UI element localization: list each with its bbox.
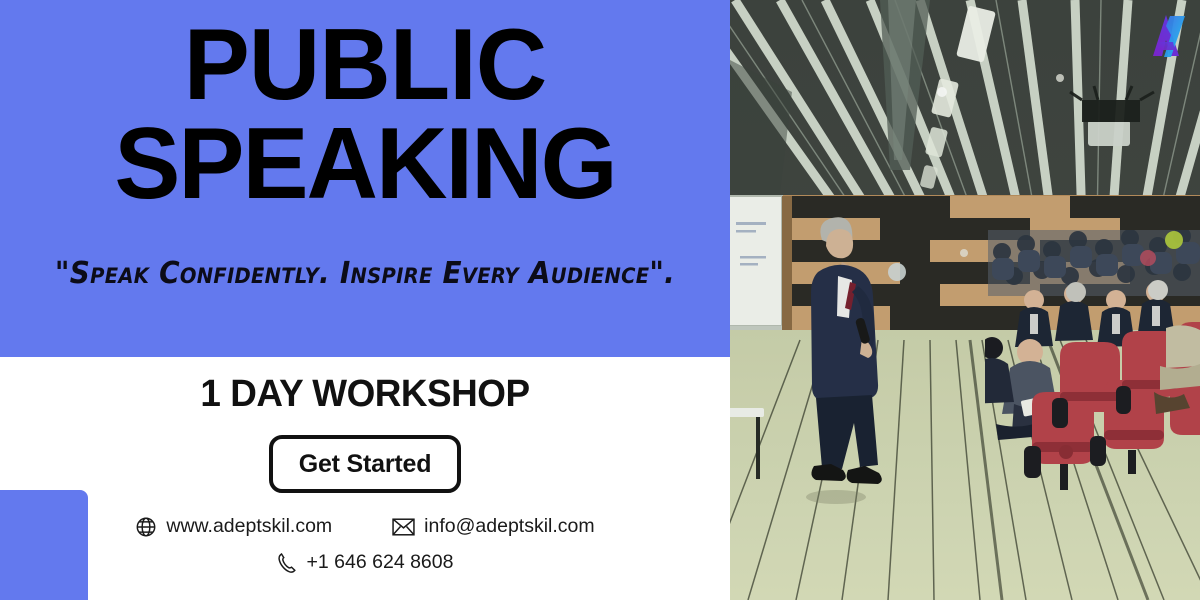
lecture-hall-photo xyxy=(730,0,1200,600)
workshop-duration-label: 1 DAY WORKSHOP xyxy=(11,373,719,416)
lecture-hall-illustration xyxy=(730,0,1200,600)
title-line-speaking: SPEAKING xyxy=(7,115,722,214)
globe-icon xyxy=(135,516,157,538)
adeptskil-a-logo-icon xyxy=(1140,10,1192,62)
title-line-public: PUBLIC xyxy=(7,16,722,115)
public-speaking-banner: PUBLIC SPEAKING "Speak Confidently. Insp… xyxy=(0,0,1200,600)
envelope-icon xyxy=(392,517,415,537)
email-contact-item[interactable]: info@adeptskil.com xyxy=(392,515,594,538)
phone-icon xyxy=(277,552,298,574)
contact-row-phone: +1 646 624 8608 xyxy=(0,551,730,574)
website-contact-item[interactable]: www.adeptskil.com xyxy=(135,515,332,538)
hero-panel: PUBLIC SPEAKING "Speak Confidently. Insp… xyxy=(0,0,730,357)
decorative-square-bottom-left xyxy=(0,490,88,600)
phone-contact-item[interactable]: +1 646 624 8608 xyxy=(277,551,454,574)
email-text: info@adeptskil.com xyxy=(424,515,594,538)
phone-text: +1 646 624 8608 xyxy=(307,551,454,574)
page-title: PUBLIC SPEAKING xyxy=(0,16,730,214)
website-text: www.adeptskil.com xyxy=(166,515,332,538)
cta-container: Get Started xyxy=(0,435,730,493)
offer-panel: 1 DAY WORKSHOP Get Started www.adeptskil… xyxy=(0,357,730,600)
tagline: "Speak Confidently. Inspire Every Audien… xyxy=(26,256,705,291)
get-started-button[interactable]: Get Started xyxy=(269,435,462,493)
contact-row-primary: www.adeptskil.com info@adeptskil.com xyxy=(0,515,730,538)
